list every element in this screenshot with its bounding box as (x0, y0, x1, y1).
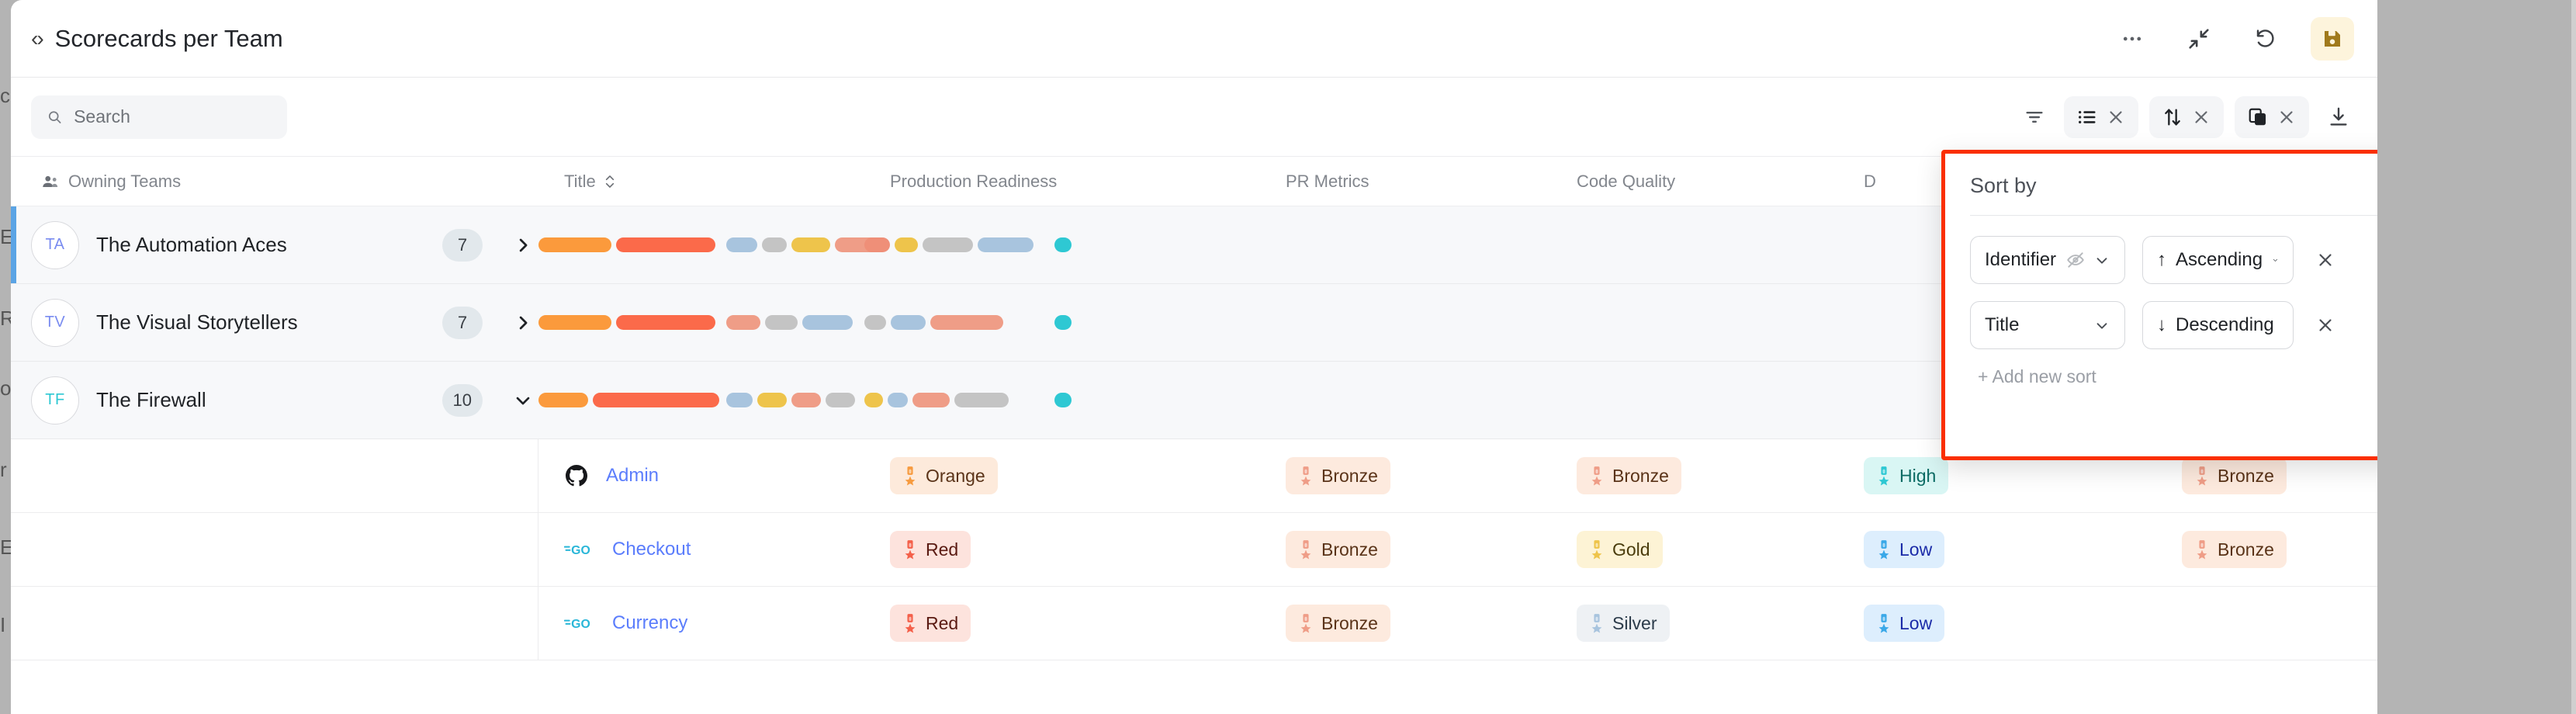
sort-direction-label: Descending (2176, 314, 2274, 336)
medal-icon (902, 613, 918, 633)
badge-label: Low (1899, 613, 1932, 634)
go-icon: GO (564, 539, 595, 560)
score-bar-segment (978, 237, 1034, 252)
column-header-label: PR Metrics (1286, 172, 1369, 192)
chevron-right-icon (512, 234, 534, 256)
score-bar-segment (538, 315, 611, 330)
score-bar-group (538, 315, 715, 330)
column-header-label: Code Quality (1577, 172, 1675, 192)
medal-icon (1298, 466, 1314, 486)
column-header-production-readiness[interactable]: Production Readiness (864, 172, 1260, 192)
column-header-label: Owning Teams (68, 172, 181, 192)
pr-metrics-badge: Bronze (1286, 457, 1390, 494)
medal-icon (2194, 466, 2210, 486)
collapse-button[interactable] (2177, 17, 2221, 61)
expand-toggle[interactable] (512, 312, 534, 334)
score-bar-segment (864, 393, 883, 407)
sort-rows-container: Identifier ↑ Ascending Title ↓ Descendin… (1970, 236, 2377, 349)
score-bar-segment (765, 315, 798, 330)
repo-link[interactable]: Admin (606, 465, 659, 487)
team-name: The Visual Storytellers (96, 310, 425, 334)
column-header-owning-teams[interactable]: Owning Teams (11, 172, 538, 192)
search-box[interactable] (31, 95, 287, 139)
filter-icon (2024, 106, 2045, 128)
row-pr-metrics-cell: Bronze (1260, 457, 1551, 494)
code-quality-badge: Gold (1577, 531, 1663, 568)
background-page-edge: c E R o r E I (0, 0, 11, 714)
score-bar-group (864, 237, 1034, 252)
toolbar (11, 78, 2377, 157)
score-bar-segment (930, 315, 1003, 330)
score-bar-segment (1054, 393, 1072, 407)
badge-label: Bronze (2218, 466, 2274, 487)
divider (1970, 215, 2377, 216)
medal-icon (902, 466, 918, 486)
main-panel: ‹› Scorecards per Team (11, 0, 2377, 714)
expand-toggle[interactable] (512, 234, 534, 256)
collapse-arrows-icon (2186, 26, 2212, 52)
close-icon (2106, 107, 2126, 127)
score-bar-segment (826, 393, 855, 407)
avatar: TA (31, 221, 79, 269)
sort-by-title: Sort by (1970, 174, 2377, 198)
row-dev-cell: Low (1838, 531, 2156, 568)
close-icon (2191, 107, 2211, 127)
sort-direction-arrow-icon: ↑ (2157, 249, 2166, 271)
reset-button[interactable] (2244, 17, 2287, 61)
score-bar-segment (616, 237, 715, 252)
row-dev-cell: Low (1838, 605, 2156, 642)
add-new-sort-button[interactable]: + Add new sort (1970, 366, 2377, 387)
score-bar-segment (538, 237, 611, 252)
row-production-readiness-cell: Red (864, 605, 1260, 642)
score-bar-group (726, 237, 886, 252)
badge-label: Red (926, 539, 958, 560)
row-team-cell (11, 439, 538, 512)
save-button[interactable] (2311, 17, 2354, 61)
production-readiness-badge: Red (890, 531, 971, 568)
row-code-quality-cell: Silver (1551, 605, 1838, 642)
score-bar-segment (864, 237, 890, 252)
score-bar-group (538, 237, 715, 252)
column-header-label: Title (564, 172, 596, 192)
sort-field-label: Identifier (1985, 249, 2056, 271)
badge-label: Silver (1612, 613, 1657, 634)
team-name: The Firewall (96, 388, 425, 412)
score-bar-group (1054, 237, 1072, 252)
score-bar-segment (616, 315, 715, 330)
group-cards-chip[interactable] (2235, 96, 2309, 138)
medal-icon (1876, 466, 1892, 486)
last-badge: Bronze (2182, 457, 2287, 494)
row-code-quality-cell: Bronze (1551, 457, 1838, 494)
repo-link[interactable]: Currency (612, 612, 687, 634)
score-bar-segment (538, 393, 588, 407)
row-dev-cell: High (1838, 457, 2156, 494)
sort-direction-select[interactable]: ↓ Descending (2142, 301, 2294, 349)
score-bar-segment (1054, 315, 1072, 330)
code-quality-badge: Silver (1577, 605, 1670, 642)
remove-sort-rule-button[interactable] (2311, 310, 2340, 340)
last-badge: Bronze (2182, 531, 2287, 568)
column-header-title[interactable]: Title (538, 172, 864, 192)
team-count-badge: 10 (442, 384, 483, 417)
table-row[interactable]: GO Checkout Red Bronze Gold (11, 513, 2377, 587)
title-bar: ‹› Scorecards per Team (11, 0, 2377, 78)
badge-label: Bronze (1612, 466, 1669, 487)
toolbar-actions (2016, 96, 2357, 138)
save-floppy-icon (2321, 27, 2344, 50)
sort-caret-icon (604, 172, 616, 192)
badge-label: Bronze (1321, 613, 1378, 634)
score-bar-segment (726, 237, 757, 252)
score-bar-segment (895, 237, 918, 252)
medal-icon (1298, 539, 1314, 560)
people-icon (40, 172, 61, 192)
score-bar-segment (923, 237, 973, 252)
row-pr-metrics-cell: Bronze (1260, 531, 1551, 568)
medal-icon (1876, 539, 1892, 560)
sort-field-label: Title (1985, 314, 2084, 336)
score-bar-group (864, 315, 1003, 330)
chevron-right-icon (512, 312, 534, 334)
title-bar-actions (2110, 17, 2354, 61)
row-last-cell: Bronze (2156, 457, 2377, 494)
group-by-remove-button[interactable] (2106, 107, 2126, 127)
sort-direction-select[interactable]: ↑ Ascending (2142, 236, 2294, 284)
medal-icon (1298, 613, 1314, 633)
row-code-quality-cell: Gold (1551, 531, 1838, 568)
ellipsis-icon (2121, 27, 2144, 50)
undo-arrow-icon (2253, 26, 2278, 51)
badge-label: Red (926, 613, 958, 634)
score-bar-segment (726, 315, 760, 330)
row-team-cell (11, 587, 538, 660)
go-icon: GO (564, 613, 595, 633)
dev-badge: Low (1864, 531, 1944, 568)
production-readiness-badge: Red (890, 605, 971, 642)
code-brackets-icon: ‹› (31, 26, 43, 51)
download-button[interactable] (2320, 99, 2357, 136)
search-icon (47, 108, 63, 127)
avatar: TF (31, 376, 79, 425)
dev-badge: High (1864, 457, 1948, 494)
group-by-chip[interactable] (2064, 96, 2138, 138)
sort-by-chip[interactable] (2149, 96, 2224, 138)
sort-rule-row: Title ↓ Descending (1970, 301, 2377, 349)
score-bar-segment (726, 393, 753, 407)
chevron-down-icon (2093, 251, 2110, 269)
score-bar-segment (1054, 237, 1072, 252)
title-bar-left: ‹› Scorecards per Team (11, 25, 283, 53)
score-bar-segment (891, 315, 926, 330)
team-cell: TA The Automation Aces 7 (11, 221, 538, 269)
medal-icon (1876, 613, 1892, 633)
sort-field-select[interactable]: Title (1970, 301, 2125, 349)
badge-label: Low (1899, 539, 1932, 560)
close-icon (2315, 315, 2335, 335)
sort-by-popup-content: Sort by Identifier ↑ Ascending Title ↓ D… (1945, 154, 2377, 387)
table-row[interactable]: GO Currency Red Bronze Silver (11, 587, 2377, 660)
badge-label: Bronze (1321, 466, 1378, 487)
badge-label: High (1899, 466, 1936, 487)
avatar: TV (31, 299, 79, 347)
github-icon (564, 463, 589, 488)
close-icon (2277, 107, 2297, 127)
medal-icon (2194, 539, 2210, 560)
pr-metrics-badge: Bronze (1286, 605, 1390, 642)
medal-icon (1589, 613, 1605, 633)
sort-by-remove-button[interactable] (2191, 107, 2211, 127)
column-header-label: D (1864, 172, 1876, 192)
row-last-cell: Bronze (2156, 531, 2377, 568)
sort-arrows-icon (2162, 106, 2183, 128)
row-title-cell: Admin (538, 463, 864, 488)
score-bar-segment (762, 237, 787, 252)
column-header-code-quality[interactable]: Code Quality (1551, 172, 1838, 192)
filter-button[interactable] (2016, 99, 2053, 136)
score-bar-segment (791, 237, 830, 252)
copy-icon (2247, 106, 2269, 128)
dev-badge: Low (1864, 605, 1944, 642)
sort-direction-arrow-icon: ↓ (2157, 314, 2166, 336)
score-bar-group (1054, 393, 1072, 407)
medal-icon (902, 539, 918, 560)
score-bar-segment (802, 315, 853, 330)
remove-sort-rule-button[interactable] (2311, 245, 2340, 275)
page-title: Scorecards per Team (55, 25, 283, 53)
close-icon (2315, 250, 2335, 270)
team-count-badge: 7 (442, 307, 483, 339)
badge-label: Bronze (1321, 539, 1378, 560)
badge-label: Bronze (2218, 539, 2274, 560)
medal-icon (1589, 466, 1605, 486)
search-input[interactable] (74, 106, 272, 127)
sort-direction-label: Ascending (2176, 249, 2263, 271)
sort-field-select[interactable]: Identifier (1970, 236, 2125, 284)
column-header-label: Production Readiness (890, 172, 1057, 192)
pr-metrics-badge: Bronze (1286, 531, 1390, 568)
medal-icon (1589, 539, 1605, 560)
chevron-down-icon (2093, 317, 2110, 334)
download-icon (2327, 106, 2350, 129)
svg-text:GO: GO (571, 544, 590, 557)
score-bar-segment (954, 393, 1009, 407)
sort-rule-row: Identifier ↑ Ascending (1970, 236, 2377, 284)
score-bar-group (726, 315, 853, 330)
score-bar-group (726, 393, 855, 407)
more-options-button[interactable] (2110, 17, 2154, 61)
sort-by-popup: Sort by Identifier ↑ Ascending Title ↓ D… (1941, 150, 2377, 460)
column-header-pr-metrics[interactable]: PR Metrics (1260, 172, 1551, 192)
list-icon (2076, 106, 2098, 128)
team-cell: TF The Firewall 10 (11, 376, 538, 425)
production-readiness-badge: Orange (890, 457, 998, 494)
code-quality-badge: Bronze (1577, 457, 1681, 494)
score-bar-group (1054, 315, 1072, 330)
row-pr-metrics-cell: Bronze (1260, 605, 1551, 642)
expand-toggle[interactable] (512, 390, 534, 411)
team-count-badge: 7 (442, 229, 483, 262)
chevron-down-icon (512, 390, 534, 411)
score-bar-segment (757, 393, 787, 407)
team-name: The Automation Aces (96, 233, 425, 257)
hidden-eye-icon (2065, 250, 2086, 270)
row-title-cell: GO Checkout (538, 539, 864, 560)
badge-label: Gold (1612, 539, 1650, 560)
row-production-readiness-cell: Red (864, 531, 1260, 568)
score-bar-group (538, 393, 719, 407)
team-cell: TV The Visual Storytellers 7 (11, 299, 538, 347)
score-bar-segment (912, 393, 950, 407)
score-bar-segment (593, 393, 719, 407)
group-cards-remove-button[interactable] (2277, 107, 2297, 127)
score-bar-segment (888, 393, 908, 407)
row-title-cell: GO Currency (538, 612, 864, 634)
badge-label: Orange (926, 466, 985, 487)
chevron-down-icon (2272, 251, 2279, 269)
row-team-cell (11, 513, 538, 586)
repo-link[interactable]: Checkout (612, 539, 691, 560)
score-bar-segment (864, 315, 886, 330)
score-bar-group (864, 393, 1009, 407)
score-bar-segment (791, 393, 821, 407)
right-edge-scroll-gutter (2571, 0, 2576, 714)
row-production-readiness-cell: Orange (864, 457, 1260, 494)
svg-text:GO: GO (571, 618, 590, 631)
